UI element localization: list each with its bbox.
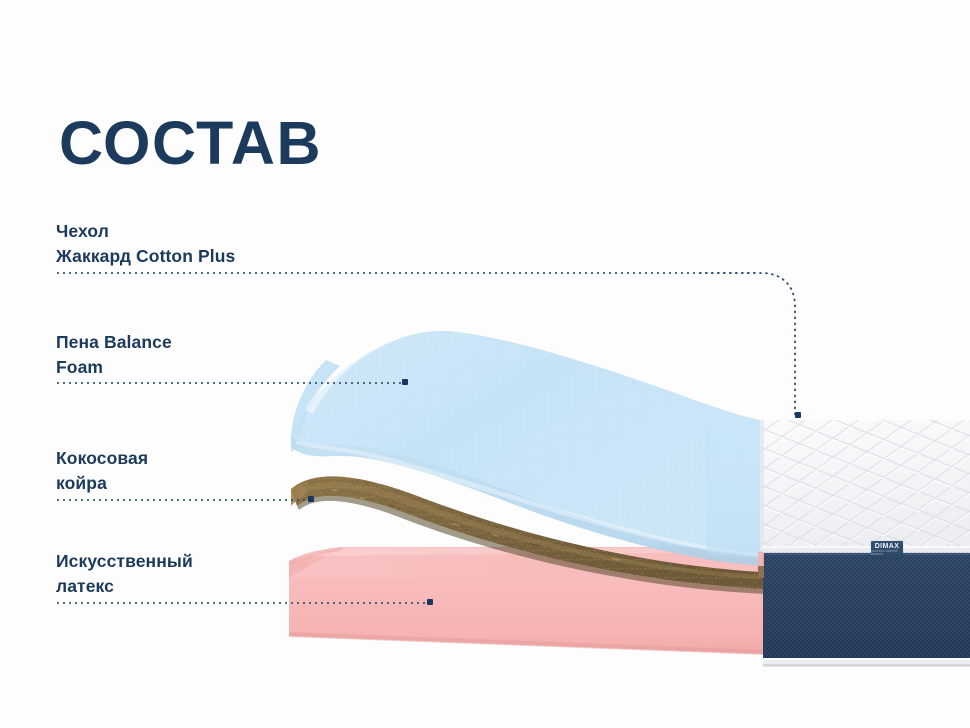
label-cover: Чехол Жаккард Cotton Plus	[56, 219, 235, 269]
brand-tag: DIMAX ФАБРИКА МЯГКОЙ МЕБЕЛИ	[871, 541, 903, 558]
label-latex-line1: Искусственный	[56, 551, 193, 571]
label-cover-line1: Чехол	[56, 221, 109, 241]
label-foam-line1: Пена Balance	[56, 332, 172, 352]
composition-infographic: СОСТАВ	[0, 0, 970, 728]
label-latex-line2: латекс	[56, 574, 193, 599]
layer-edge-tuckunder	[758, 552, 764, 578]
leader-line-coir	[55, 499, 310, 501]
label-coconut-coir: Кокосовая койра	[56, 446, 148, 496]
layer-cover-side-panel	[760, 550, 970, 665]
leader-dot-cover	[795, 412, 801, 418]
label-foam-line2: Foam	[56, 355, 172, 380]
brand-tagline: ФАБРИКА МЯГКОЙ МЕБЕЛИ	[871, 551, 903, 556]
label-coir-line2: койра	[56, 471, 148, 496]
label-coir-line1: Кокосовая	[56, 448, 148, 468]
label-cover-line2: Жаккард Cotton Plus	[56, 244, 235, 269]
leader-line-foam	[55, 382, 405, 384]
layer-foam-block-right	[694, 415, 766, 560]
leader-line-cover	[55, 272, 755, 274]
cover-bottom-piping	[763, 658, 970, 667]
layer-cover-quilted-top	[745, 405, 970, 565]
leader-dot-latex	[427, 599, 433, 605]
label-balance-foam: Пена Balance Foam	[56, 330, 172, 380]
leader-dot-coir	[308, 496, 314, 502]
layer-artificial-latex	[289, 547, 766, 655]
label-artificial-latex: Искусственный латекс	[56, 549, 193, 599]
leader-line-latex	[55, 602, 430, 604]
brand-name: DIMAX	[875, 543, 900, 550]
leader-dot-foam	[402, 379, 408, 385]
